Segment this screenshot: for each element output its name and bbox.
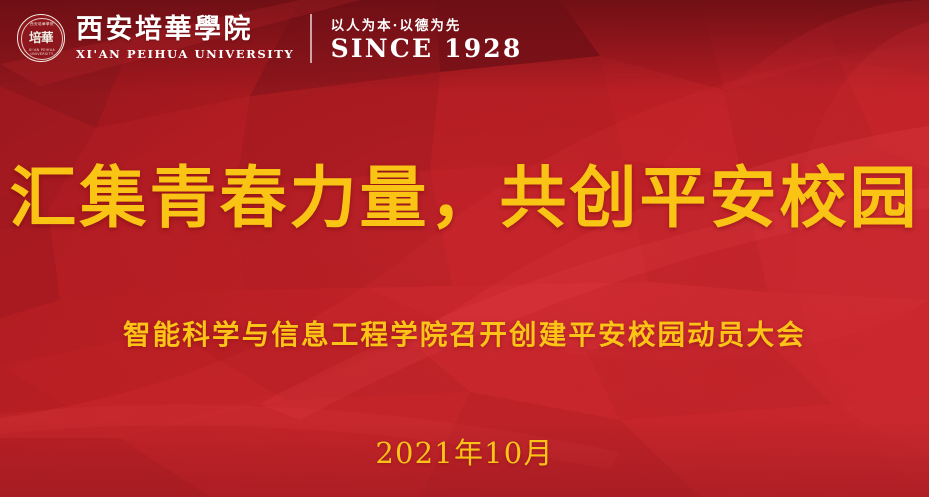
university-name-cn: 西安培華學院 — [76, 15, 294, 44]
main-title: 汇集青春力量，共创平安校园 — [0, 160, 929, 235]
university-name-en: XI'AN PEIHUA UNIVERSITY — [76, 47, 294, 61]
university-seal-emblem: 西安培華學院 培華 XI'AN PEIHUA UNIVERSITY — [17, 14, 65, 62]
motto-block: 以人为本·以德为先 SINCE 1928 — [331, 14, 523, 63]
motto-text: 以人为本·以德为先 — [331, 14, 523, 34]
seal-arc-bottom-label: XI'AN PEIHUA UNIVERSITY — [18, 48, 65, 56]
subtitle: 智能科学与信息工程学院召开创建平安校园动员大会 — [0, 312, 929, 352]
poster-banner: 西安培華學院 培華 XI'AN PEIHUA UNIVERSITY 西安培華學院… — [0, 0, 929, 497]
university-name-block: 西安培華學院 XI'AN PEIHUA UNIVERSITY — [76, 15, 294, 61]
seal-center-label: 培華 — [29, 32, 53, 45]
date-label: 2021年10月 — [0, 430, 929, 472]
header-divider — [310, 14, 311, 63]
seal-arc-top-label: 西安培華學院 — [18, 22, 65, 27]
header-logo-lockup: 西安培華學院 培華 XI'AN PEIHUA UNIVERSITY 西安培華學院… — [0, 0, 929, 76]
since-text: SINCE 1928 — [331, 35, 523, 63]
